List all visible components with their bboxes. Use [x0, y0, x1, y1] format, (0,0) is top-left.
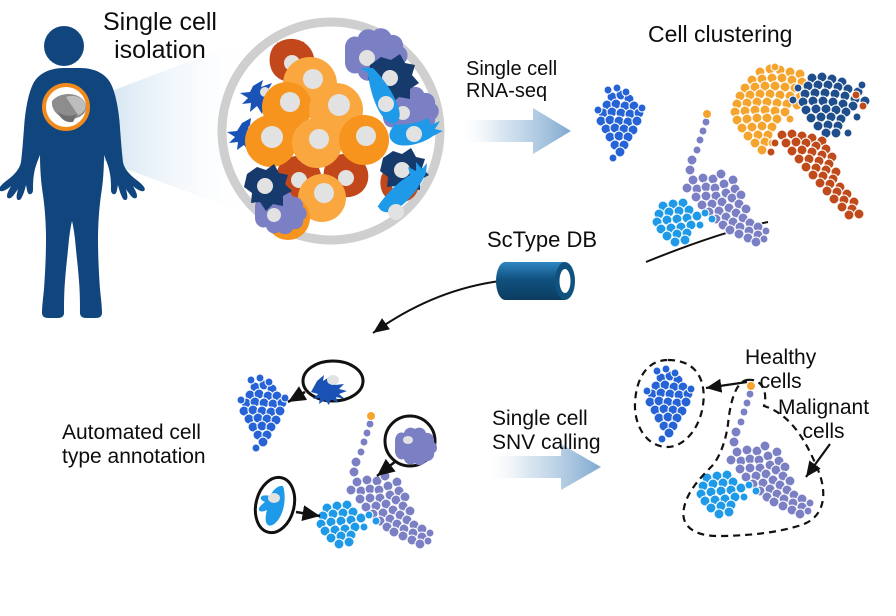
cluster-orange-outlier [703, 110, 712, 119]
label-single-cell-isolation: Single cell isolation [103, 8, 217, 64]
elongated-cell-callout [250, 473, 320, 537]
label-sctype-db: ScType DB [487, 228, 597, 253]
figure-canvas: Single cell isolation Single cell RNA-se… [0, 0, 896, 616]
dendritic-cell-callout [288, 361, 363, 405]
label-automated-annotation: Automated cell type annotation [62, 421, 206, 468]
flower-cell-callout [377, 416, 437, 476]
label-single-cell-rnaseq: Single cell RNA-seq [466, 58, 557, 103]
diagram-graphics [0, 0, 896, 616]
curve-db-to-annotation [373, 281, 500, 333]
label-healthy-cells: Healthy cells [745, 346, 816, 393]
arrow-rnaseq [461, 108, 571, 154]
cluster-royal-blue [594, 84, 646, 162]
healthy-label-arrow [706, 382, 747, 388]
cell-clustering-plot [594, 63, 870, 247]
label-malignant-cells: Malignant cells [778, 396, 869, 443]
human-body-silhouette [0, 26, 145, 318]
sctype-db-icon [496, 262, 575, 300]
annot-orange-outlier [367, 412, 376, 421]
label-single-cell-snv: Single cell SNV calling [492, 407, 601, 454]
organ-inset [44, 85, 88, 129]
snv-healthy-cluster [643, 365, 695, 443]
annot-cluster-royal-blue [237, 374, 289, 452]
label-cell-clustering: Cell clustering [648, 22, 792, 48]
